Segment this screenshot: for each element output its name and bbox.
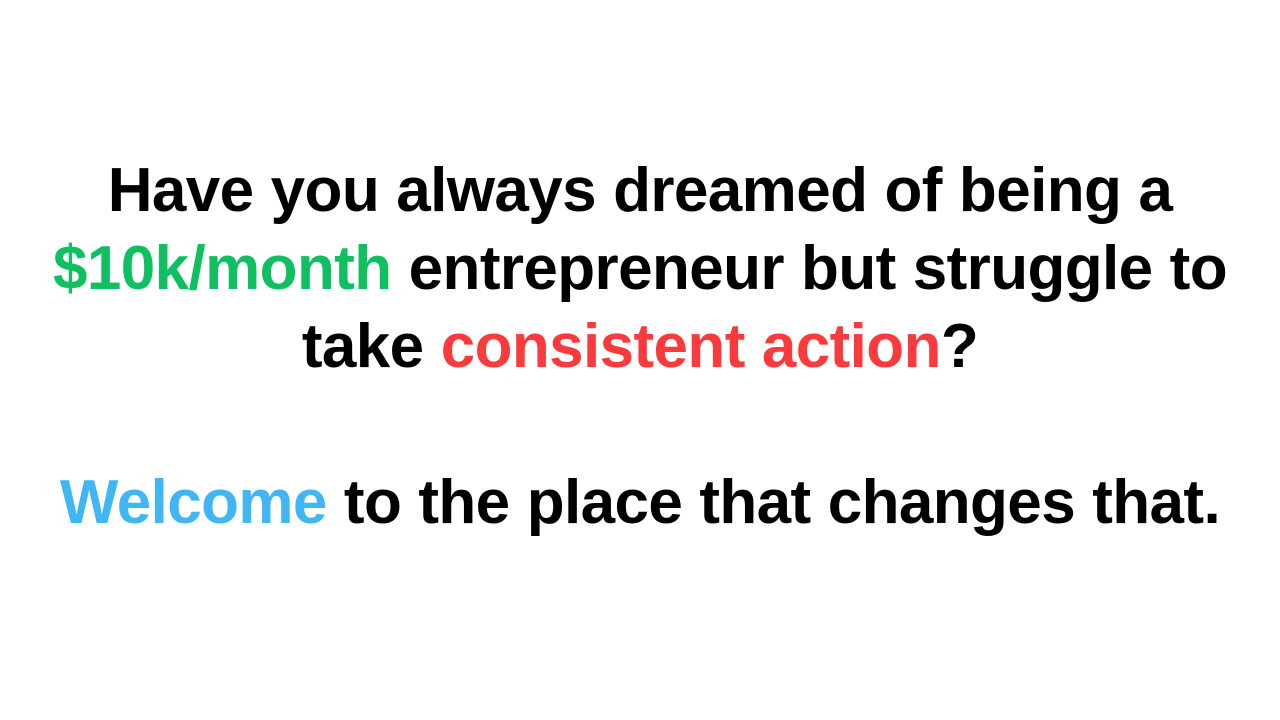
headline-welcome-rest: to the place that changes that. xyxy=(327,468,1220,537)
headline-highlight-action: consistent action xyxy=(441,312,941,381)
headline-question-mark: ? xyxy=(941,312,978,381)
paragraph-spacer xyxy=(50,386,1230,464)
headline-paragraph-question: Have you always dreamed of being a $10k/… xyxy=(50,152,1230,386)
slide-canvas: Have you always dreamed of being a $10k/… xyxy=(0,0,1280,720)
headline-lead-text: Have you always dreamed of being a xyxy=(108,156,1173,225)
headline-highlight-money: $10k/month xyxy=(53,234,392,303)
headline-highlight-welcome: Welcome xyxy=(60,468,327,537)
headline-paragraph-welcome: Welcome to the place that changes that. xyxy=(50,464,1230,542)
headline-block: Have you always dreamed of being a $10k/… xyxy=(50,0,1230,542)
